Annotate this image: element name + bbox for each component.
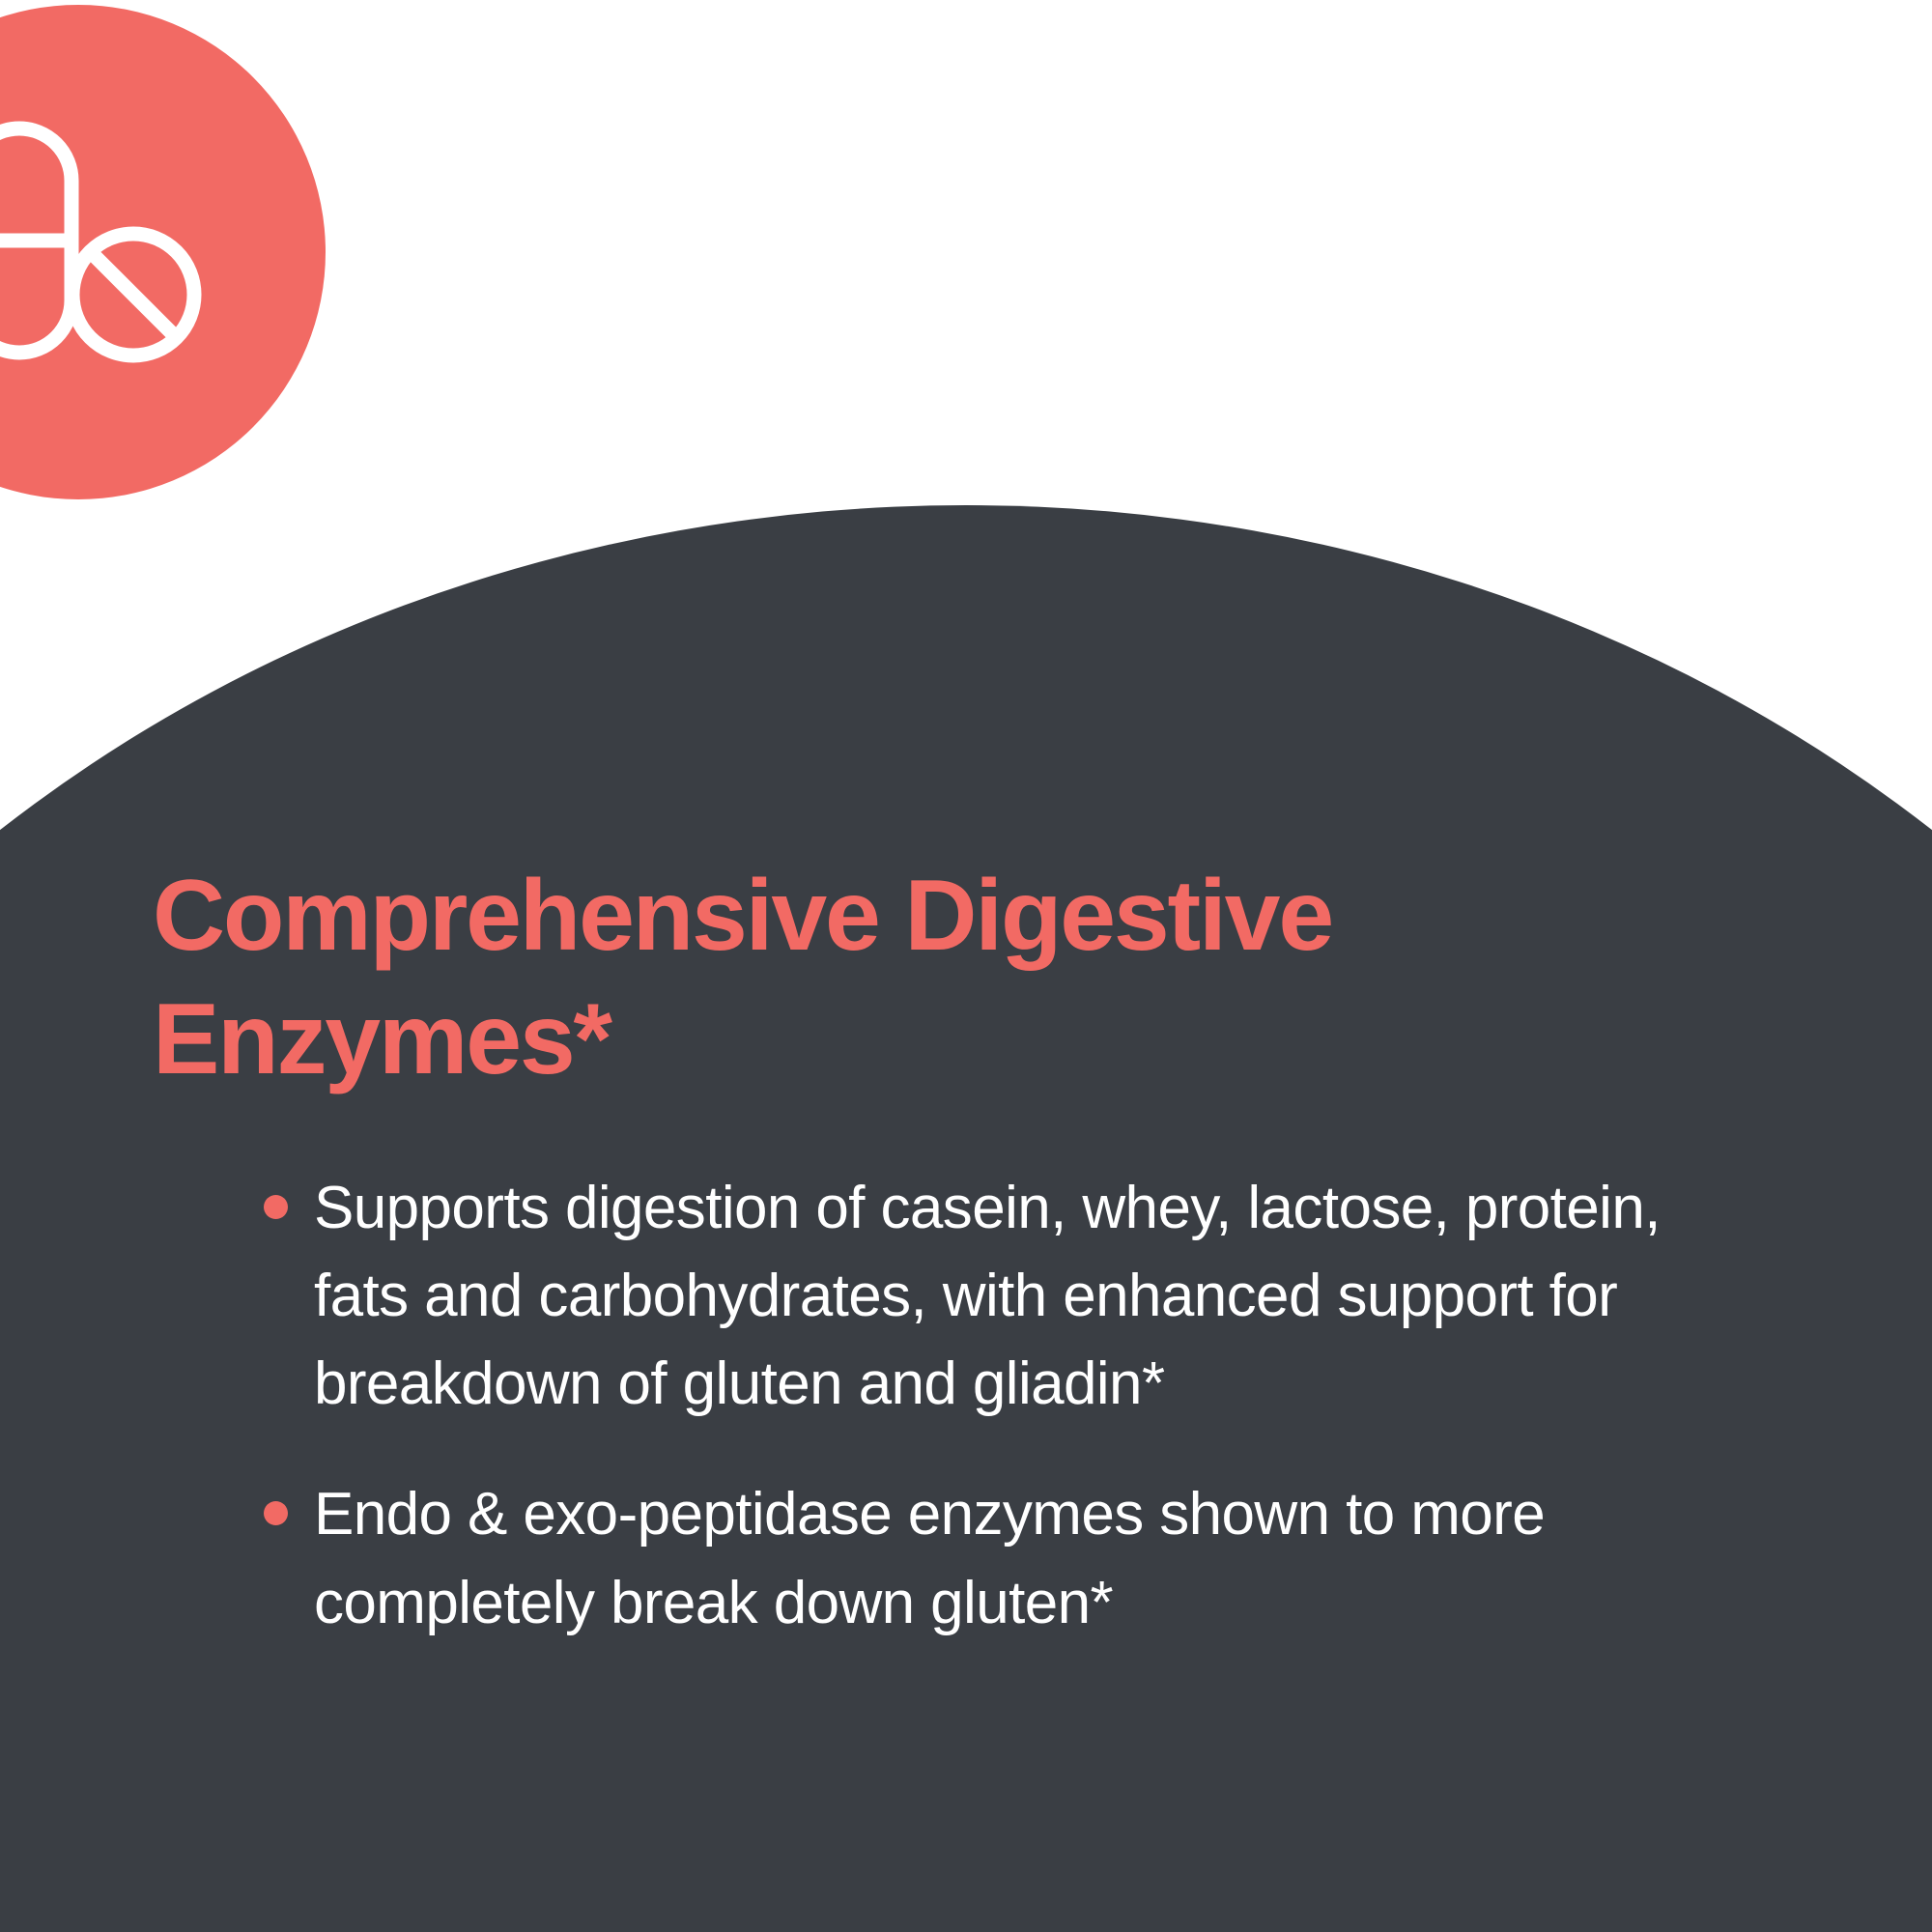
list-item: Supports digestion of casein, whey, lact… [253, 1164, 1768, 1428]
bullet-dot-icon [264, 1195, 288, 1219]
benefits-list: Supports digestion of casein, whey, lact… [253, 1164, 1799, 1690]
page-title: Comprehensive Digestive Enzymes* [153, 855, 1698, 1102]
bullet-dot-icon [264, 1501, 288, 1525]
card-content: Comprehensive Digestive Enzymes* Support… [0, 0, 1932, 1932]
list-item-text: Endo & exo-peptidase enzymes shown to mo… [314, 1470, 1768, 1646]
list-item-text: Supports digestion of casein, whey, lact… [314, 1164, 1768, 1428]
list-item: Endo & exo-peptidase enzymes shown to mo… [253, 1470, 1768, 1646]
feature-card: Comprehensive Digestive Enzymes* Support… [0, 0, 1932, 1932]
